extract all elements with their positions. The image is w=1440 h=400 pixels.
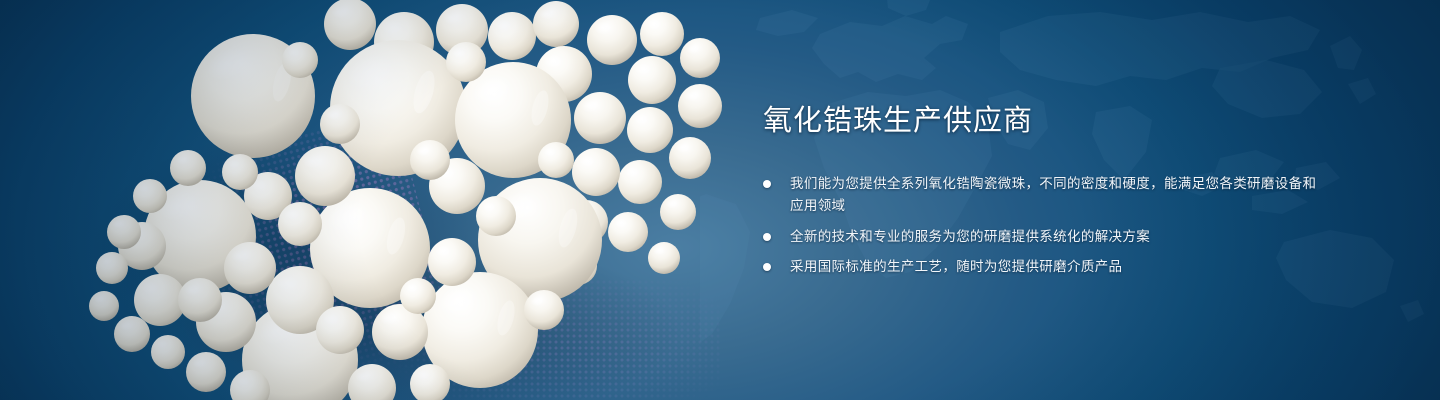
- list-item: 我们能为您提供全系列氧化锆陶瓷微珠，不同的密度和硬度，能满足您各类研磨设备和应用…: [763, 173, 1323, 217]
- list-item: 全新的技术和专业的服务为您的研磨提供系统化的解决方案: [763, 226, 1323, 248]
- list-item-text: 全新的技术和专业的服务为您的研磨提供系统化的解决方案: [790, 229, 1150, 244]
- hero-banner: 氧化锆珠生产供应商 我们能为您提供全系列氧化锆陶瓷微珠，不同的密度和硬度，能满足…: [0, 0, 1440, 400]
- list-item-text: 我们能为您提供全系列氧化锆陶瓷微珠，不同的密度和硬度，能满足您各类研磨设备和应用…: [790, 176, 1316, 213]
- bullet-dot-icon: [763, 180, 771, 188]
- list-item-text: 采用国际标准的生产工艺，随时为您提供研磨介质产品: [790, 259, 1122, 274]
- page-title: 氧化锆珠生产供应商: [763, 104, 1323, 139]
- bullet-dot-icon: [763, 263, 771, 271]
- list-item: 采用国际标准的生产工艺，随时为您提供研磨介质产品: [763, 256, 1323, 278]
- feature-list: 我们能为您提供全系列氧化锆陶瓷微珠，不同的密度和硬度，能满足您各类研磨设备和应用…: [763, 173, 1323, 278]
- bullet-dot-icon: [763, 233, 771, 241]
- banner-copy: 氧化锆珠生产供应商 我们能为您提供全系列氧化锆陶瓷微珠，不同的密度和硬度，能满足…: [763, 104, 1323, 278]
